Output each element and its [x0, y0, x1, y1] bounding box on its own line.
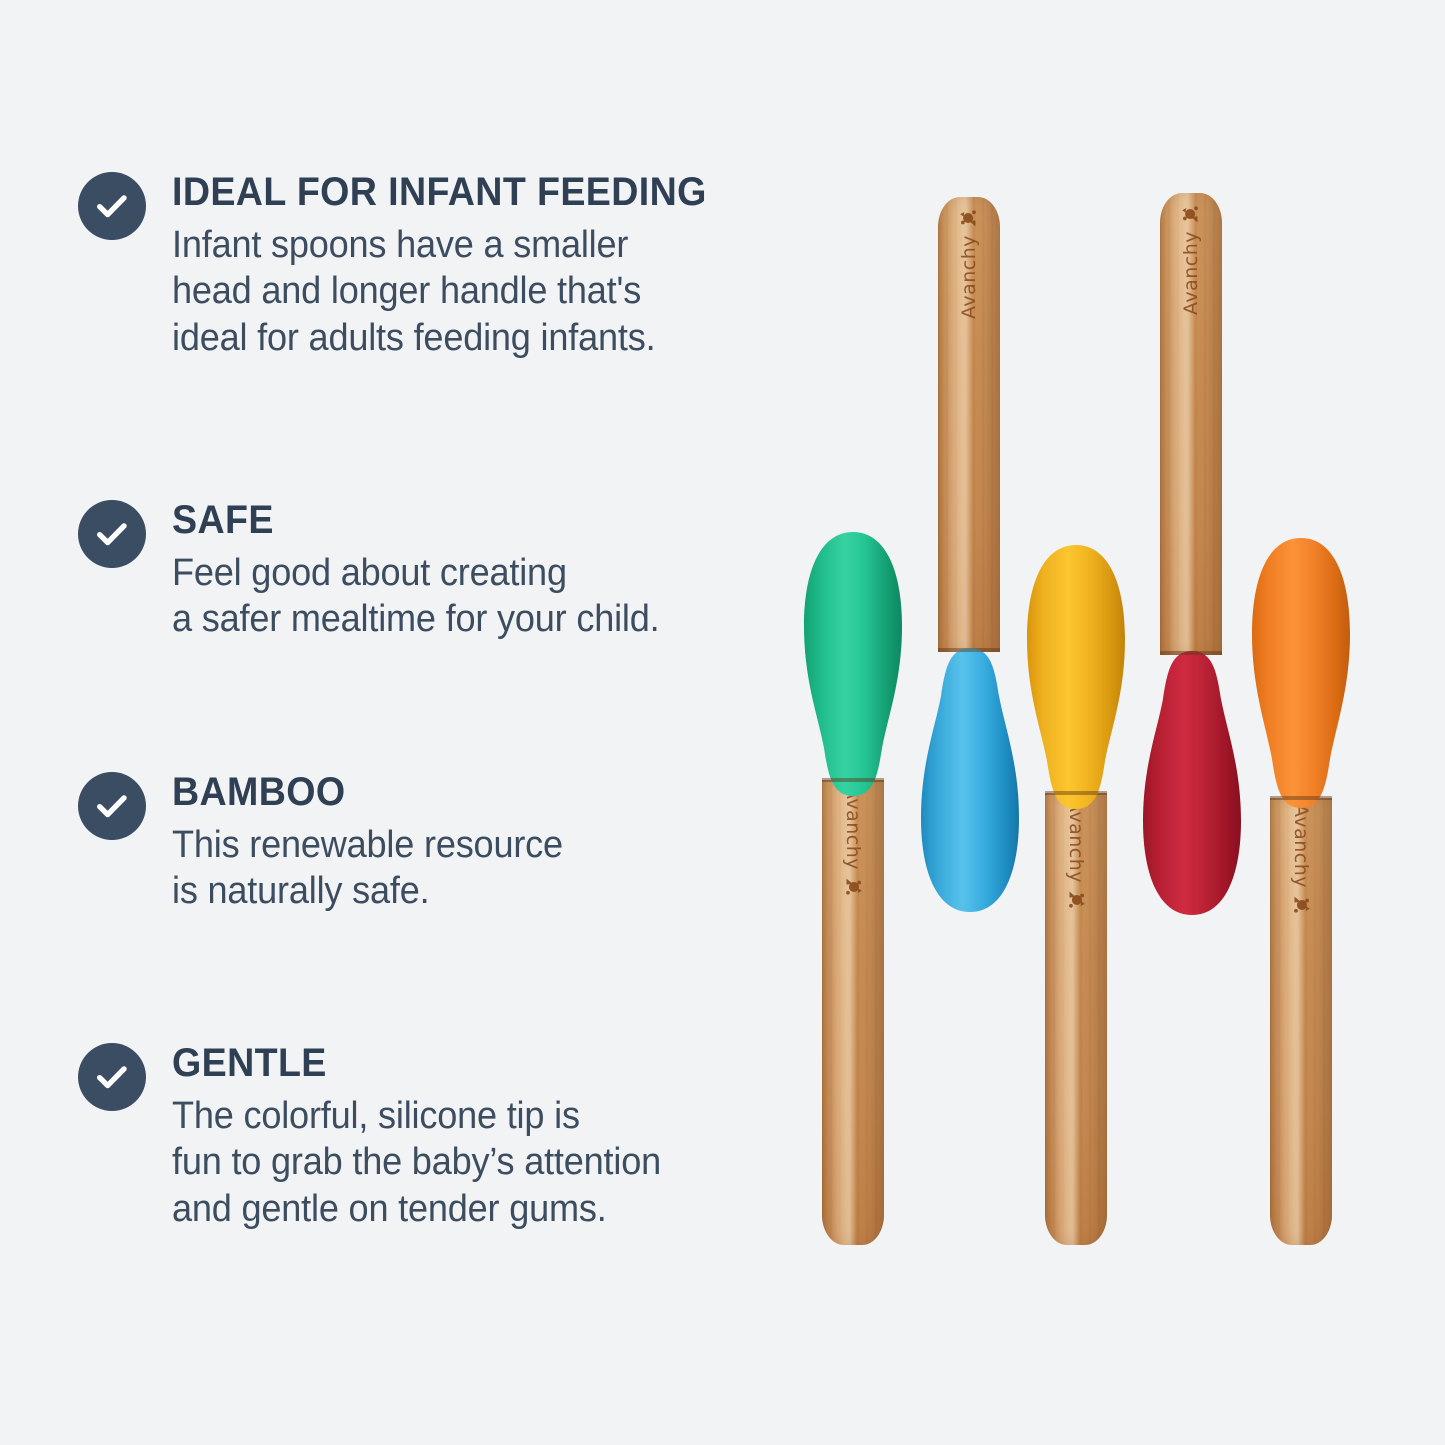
brand-mark: Avanchy	[1063, 799, 1089, 913]
feature-item-gentle: GENTLE The colorful, silicone tip is fun…	[78, 1043, 778, 1232]
tip-bowl	[1250, 536, 1352, 814]
avanchy-bird-logo-icon	[1063, 887, 1089, 913]
avanchy-bird-logo-icon	[1178, 201, 1204, 227]
check-badge	[78, 1043, 146, 1111]
avanchy-bird-logo-icon	[840, 874, 866, 900]
feature-description: Feel good about creating a safer mealtim…	[172, 550, 748, 643]
bamboo-handle: Avanchy	[1160, 193, 1222, 655]
feature-description: The colorful, silicone tip is fun to gra…	[172, 1093, 748, 1232]
silicone-tip-yellow	[1025, 543, 1127, 815]
bamboo-handle: Avanchy	[1045, 793, 1107, 1245]
brand-mark: Avanchy	[1288, 804, 1314, 918]
silicone-tip-green	[802, 530, 904, 802]
bamboo-handle: Avanchy	[938, 197, 1000, 652]
silicone-tip-blue	[919, 632, 1021, 914]
check-icon	[93, 787, 131, 825]
tip-bowl	[919, 632, 1021, 914]
silicone-tip-orange	[1250, 536, 1352, 814]
feature-item-ideal-for-infant-feeding: IDEAL FOR INFANT FEEDING Infant spoons h…	[78, 172, 778, 361]
product-photo: Avanchy	[780, 0, 1445, 1445]
check-badge	[78, 172, 146, 240]
feature-title: BAMBOO	[172, 772, 742, 812]
avanchy-bird-logo-icon	[1288, 892, 1314, 918]
tip-handle-seam	[1160, 651, 1222, 655]
check-badge	[78, 772, 146, 840]
tip-bowl	[802, 530, 904, 802]
avanchy-bird-logo-icon	[956, 205, 982, 231]
feature-title: GENTLE	[172, 1043, 742, 1083]
brand-name: Avanchy	[1290, 804, 1312, 888]
tip-handle-seam	[822, 778, 884, 782]
brand-name: Avanchy	[958, 235, 980, 319]
tip-handle-seam	[1045, 791, 1107, 795]
feature-list: IDEAL FOR INFANT FEEDING Infant spoons h…	[0, 0, 800, 1445]
tip-bowl	[1025, 543, 1127, 815]
bamboo-handle: Avanchy	[822, 780, 884, 1245]
brand-mark: Avanchy	[1178, 201, 1204, 315]
silicone-tip-red	[1141, 635, 1243, 917]
tip-handle-seam	[1270, 796, 1332, 800]
brand-mark: Avanchy	[840, 786, 866, 900]
check-badge	[78, 500, 146, 568]
check-icon	[93, 1058, 131, 1096]
bamboo-handle: Avanchy	[1270, 798, 1332, 1245]
feature-item-bamboo: BAMBOO This renewable resource is natura…	[78, 772, 778, 915]
check-icon	[93, 187, 131, 225]
tip-bowl	[1141, 635, 1243, 917]
feature-title: IDEAL FOR INFANT FEEDING	[172, 172, 742, 212]
tip-handle-seam	[938, 648, 1000, 652]
feature-description: This renewable resource is naturally saf…	[172, 822, 748, 915]
brand-mark: Avanchy	[956, 205, 982, 319]
check-icon	[93, 515, 131, 553]
feature-description: Infant spoons have a smaller head and lo…	[172, 222, 748, 361]
feature-item-safe: SAFE Feel good about creating a safer me…	[78, 500, 778, 643]
feature-title: SAFE	[172, 500, 742, 540]
brand-name: Avanchy	[1180, 231, 1202, 315]
